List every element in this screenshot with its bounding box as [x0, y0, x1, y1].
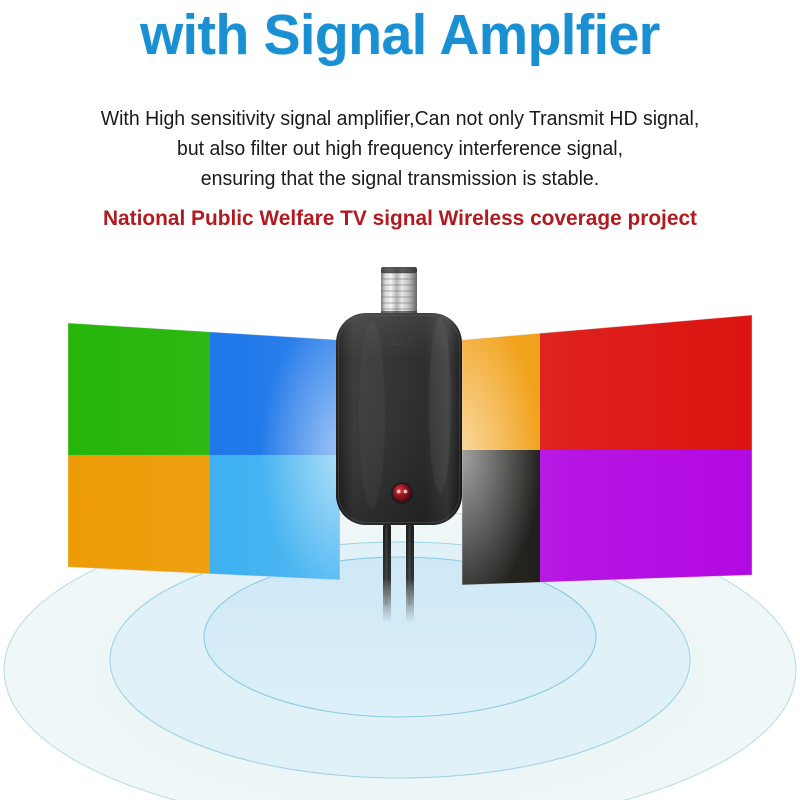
marketing-text-block: with Signal Amplfier With High sensitivi…: [0, 0, 800, 255]
subtitle-tagline: National Public Welfare TV signal Wirele…: [12, 206, 788, 231]
scene-illustration: [0, 255, 800, 800]
product-banner: with Signal Amplfier With High sensitivi…: [0, 0, 800, 800]
signal-amplifier-device: [336, 267, 462, 525]
body-line-1: With High sensitivity signal amplifier,C…: [58, 104, 742, 134]
body-description: With High sensitivity signal amplifier,C…: [58, 104, 742, 194]
led-indicator: [391, 482, 413, 504]
body-line-3: ensuring that the signal transmission is…: [58, 164, 742, 194]
coax-connector: [381, 267, 417, 319]
page-title: with Signal Amplfier: [12, 2, 788, 68]
body-line-2: but also filter out high frequency inter…: [58, 134, 742, 164]
product-scene: ANT: [0, 255, 800, 800]
